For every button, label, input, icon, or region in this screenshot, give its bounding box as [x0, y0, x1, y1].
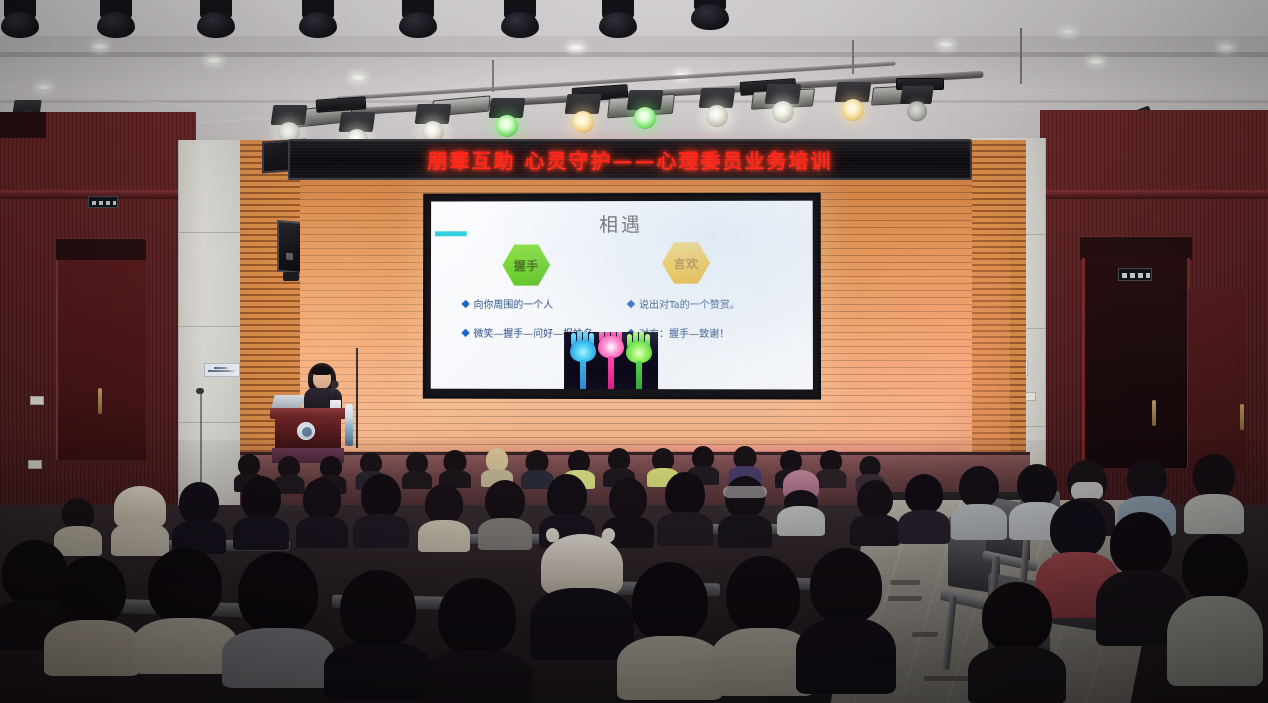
recessed-downlight	[350, 74, 366, 81]
audience-member	[484, 480, 526, 550]
hexagon-handshake: 握手	[502, 243, 550, 287]
recessed-downlight	[1218, 44, 1234, 51]
audience-member-pink-beanie	[782, 470, 820, 536]
audience-member	[904, 474, 944, 544]
right-door-transom	[1080, 236, 1192, 260]
audience-member	[856, 480, 894, 546]
recessed-downlight	[206, 57, 222, 64]
projection-screen[interactable]: 相遇 握手 言欢 向你周围的一个人 微笑—握手—问好—报姓名。	[423, 193, 821, 400]
audience-member	[980, 582, 1054, 703]
speaker-mount-bracket	[283, 272, 299, 281]
par-can-light-green	[628, 90, 662, 130]
recessed-downlight	[1060, 28, 1076, 35]
audience-member	[1192, 454, 1236, 534]
wall-outlet	[30, 396, 44, 405]
audience-member	[958, 466, 1000, 540]
audience-member	[146, 548, 224, 672]
moving-head-light	[96, 0, 136, 40]
hexagon-handshake-label: 握手	[502, 243, 550, 287]
audience-member	[178, 482, 220, 552]
led-banner-text: 朋辈互助 心灵守护——心理委员业务培训	[427, 145, 832, 174]
moving-head-light	[598, 0, 638, 40]
presenter-bangs	[312, 366, 332, 375]
slide-photo-clappers: 发光拍手掌玩具	[564, 332, 658, 390]
par-can-light	[901, 86, 932, 123]
audience-member	[302, 478, 342, 548]
audience-member	[664, 472, 706, 546]
audience-member	[818, 450, 844, 488]
audience-member-masked	[724, 476, 766, 548]
face-mask-strap	[723, 486, 767, 498]
list-item: 说出对Ta的一个赞赏。	[628, 296, 740, 311]
truss-drop-wire	[492, 60, 494, 92]
diamond-bullet-icon	[461, 328, 469, 336]
truss-drop-wire	[1020, 28, 1022, 84]
floor-marking	[888, 596, 923, 601]
audience-member	[338, 570, 418, 698]
audience-member	[240, 476, 282, 548]
par-can-light-warm	[836, 82, 870, 122]
audience-member	[236, 552, 320, 684]
bullet-text: 向你周围的一个人	[474, 296, 554, 311]
floor-marking	[924, 676, 975, 681]
audience-member	[436, 578, 518, 703]
exit-sign-icon	[88, 196, 118, 208]
right-exit-door[interactable]	[1082, 258, 1190, 468]
audience-member	[1108, 512, 1174, 646]
audience-member	[56, 556, 128, 674]
moving-head-light	[500, 0, 540, 40]
clapper-blue-icon	[570, 340, 596, 390]
water-bottle	[345, 404, 353, 446]
left-pillar-notice-sign	[204, 363, 240, 377]
wall-outlet	[28, 460, 42, 469]
hexagon-converse: 言欢	[662, 241, 710, 285]
auditorium-scene: 朋辈互助 心灵守护——心理委员业务培训 相遇 握手 言欢 向你周围的一个人 微笑…	[0, 0, 1268, 703]
podium	[270, 400, 346, 462]
par-can-light-green	[490, 98, 524, 138]
hexagon-converse-label: 言欢	[662, 241, 710, 285]
floor-marking	[912, 632, 939, 637]
microphone-stand	[356, 348, 358, 448]
cat-ear-beanie	[541, 534, 623, 596]
right-door-side-panel	[1188, 290, 1246, 470]
moving-head-light	[398, 0, 438, 40]
recessed-downlight	[568, 44, 584, 51]
floor-marking	[890, 580, 921, 585]
moving-head-light	[298, 0, 338, 40]
audience-member	[630, 562, 710, 700]
right-door-handle[interactable]	[1240, 404, 1244, 430]
right-door-handle[interactable]	[1152, 400, 1156, 426]
slide-surface: 相遇 握手 言欢 向你周围的一个人 微笑—握手—问好—报姓名。	[431, 201, 813, 390]
left-wall-notch	[0, 112, 46, 138]
truss-drop-wire	[852, 40, 854, 74]
bullet-text: 说出对Ta的一个赞赏。	[639, 296, 740, 311]
moving-head-light	[690, 0, 730, 32]
slide-title: 相遇	[431, 210, 813, 238]
podium-emblem-icon	[297, 422, 315, 440]
list-item: 向你周围的一个人	[463, 296, 603, 311]
recessed-downlight	[92, 43, 108, 50]
par-can-light-warm	[566, 94, 600, 134]
audience-member-bucket-hat	[118, 486, 162, 554]
audience-member	[1180, 534, 1250, 686]
audience-member	[442, 450, 468, 486]
moving-head-light	[196, 0, 236, 40]
audience-member-cat-beanie	[540, 530, 624, 660]
recessed-downlight	[1088, 58, 1104, 65]
audience-member	[808, 548, 884, 694]
diamond-bullet-icon	[461, 299, 469, 307]
clapper-pink-icon	[598, 336, 624, 390]
audience-member	[404, 452, 430, 488]
diamond-bullet-icon	[627, 299, 635, 307]
par-can-light	[700, 88, 734, 128]
left-exit-door[interactable]	[56, 260, 146, 460]
right-wall-ledge	[1040, 190, 1268, 199]
audience-member	[360, 474, 402, 546]
moving-head-light	[0, 0, 40, 40]
audience-member	[424, 484, 464, 552]
slide-photo-caption: 发光拍手掌玩具	[564, 332, 565, 333]
clapper-green-icon	[626, 341, 652, 389]
ceiling-band	[0, 52, 1268, 57]
par-can-light	[766, 84, 800, 124]
exit-sign-icon	[1118, 268, 1152, 281]
led-banner: 朋辈互助 心灵守护——心理委员业务培训	[288, 139, 973, 180]
recessed-downlight	[938, 41, 954, 48]
audience-member	[724, 556, 802, 696]
left-door-handle[interactable]	[98, 388, 102, 414]
par-can-light	[416, 104, 450, 144]
